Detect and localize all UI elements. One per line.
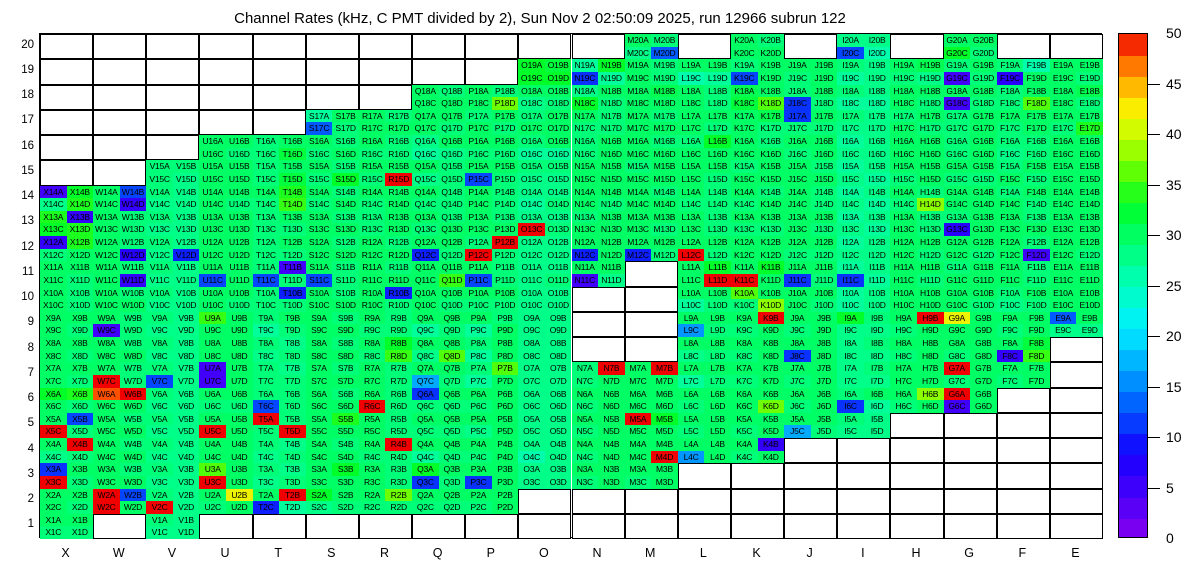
channel-quad[interactable]: H12A <box>890 236 917 249</box>
heatmap-cell[interactable]: P18AP18BP18CP18D <box>465 85 518 110</box>
channel-quad[interactable]: L7C <box>678 375 705 388</box>
channel-quad[interactable]: Q3B <box>439 463 466 476</box>
channel-quad[interactable]: I10C <box>837 299 864 312</box>
heatmap-cell[interactable]: G16AG16BG16CG16D <box>944 135 997 160</box>
heatmap-cell[interactable]: F8AF8BF8CF8D <box>997 337 1050 362</box>
channel-quad[interactable]: T11C <box>253 274 280 287</box>
heatmap-cell[interactable]: H9AH9BH9CH9D <box>890 312 943 337</box>
channel-quad[interactable]: Q18C <box>412 97 439 110</box>
heatmap-cell[interactable]: G8AG8BG8CG8D <box>944 337 997 362</box>
heatmap-cell[interactable]: U16AU16BU16CU16D <box>199 135 252 160</box>
heatmap-cell[interactable]: R4AR4BR4CR4D <box>359 438 412 463</box>
channel-quad[interactable]: U5D <box>226 425 253 438</box>
channel-quad[interactable]: J19A <box>784 59 811 72</box>
channel-quad[interactable]: E16C <box>1050 148 1077 161</box>
channel-quad[interactable]: M4D <box>651 451 678 464</box>
channel-quad[interactable]: F8C <box>997 350 1024 363</box>
channel-quad[interactable]: G9A <box>944 312 971 325</box>
channel-quad[interactable]: K17D <box>758 122 785 135</box>
channel-quad[interactable]: H8B <box>917 337 944 350</box>
channel-quad[interactable]: Q16C <box>412 148 439 161</box>
channel-quad[interactable]: J16C <box>784 148 811 161</box>
channel-quad[interactable]: H6A <box>890 388 917 401</box>
heatmap-cell[interactable]: X4AX4BX4CX4D <box>40 438 93 463</box>
channel-quad[interactable]: H15A <box>890 160 917 173</box>
channel-quad[interactable]: J11D <box>811 274 838 287</box>
channel-quad[interactable]: R9B <box>385 312 412 325</box>
channel-quad[interactable]: G17D <box>970 122 997 135</box>
channel-quad[interactable]: O12C <box>518 249 545 262</box>
channel-quad[interactable]: U4A <box>199 438 226 451</box>
heatmap-cell[interactable]: M15AM15BM15CM15D <box>625 160 678 185</box>
heatmap-cell[interactable]: J14AJ14BJ14CJ14D <box>784 186 837 211</box>
channel-quad[interactable]: M16D <box>651 148 678 161</box>
channel-quad[interactable]: F9A <box>997 312 1024 325</box>
channel-quad[interactable]: G6A <box>944 388 971 401</box>
heatmap-cell[interactable]: V4AV4BV4CV4D <box>146 438 199 463</box>
heatmap-cell[interactable]: K5AK5BK5CK5D <box>731 413 784 438</box>
channel-quad[interactable]: Q17B <box>439 110 466 123</box>
channel-quad[interactable]: I12A <box>837 236 864 249</box>
channel-quad[interactable]: P7C <box>465 375 492 388</box>
channel-quad[interactable]: W13C <box>93 223 120 236</box>
channel-quad[interactable]: H11B <box>917 261 944 274</box>
channel-quad[interactable]: N15A <box>572 160 599 173</box>
channel-quad[interactable]: F17D <box>1023 122 1050 135</box>
channel-quad[interactable]: L15A <box>678 160 705 173</box>
channel-quad[interactable]: E10A <box>1050 287 1077 300</box>
channel-quad[interactable]: H18B <box>917 85 944 98</box>
channel-quad[interactable]: R15C <box>359 173 386 186</box>
channel-quad[interactable]: T8C <box>253 350 280 363</box>
channel-quad[interactable]: N3D <box>598 476 625 489</box>
channel-quad[interactable]: T10A <box>253 287 280 300</box>
channel-quad[interactable]: L8A <box>678 337 705 350</box>
channel-quad[interactable]: I20A <box>837 34 864 47</box>
channel-quad[interactable]: P16D <box>492 148 519 161</box>
channel-quad[interactable]: E16D <box>1076 148 1103 161</box>
heatmap-cell[interactable]: S17AS17BS17CS17D <box>306 110 359 135</box>
channel-quad[interactable]: E15A <box>1050 160 1077 173</box>
channel-quad[interactable]: V15D <box>173 173 200 186</box>
heatmap-cell[interactable]: S14AS14BS14CS14D <box>306 186 359 211</box>
channel-quad[interactable]: S17A <box>306 110 333 123</box>
channel-quad[interactable]: X13A <box>40 211 67 224</box>
channel-quad[interactable]: H17B <box>917 110 944 123</box>
channel-quad[interactable]: G20B <box>970 34 997 47</box>
channel-quad[interactable]: U10C <box>199 299 226 312</box>
channel-quad[interactable]: R3D <box>385 476 412 489</box>
channel-quad[interactable]: Q13A <box>412 211 439 224</box>
channel-quad[interactable]: E10C <box>1050 299 1077 312</box>
heatmap-cell[interactable]: L15AL15BL15CL15D <box>678 160 731 185</box>
channel-quad[interactable]: Q14B <box>439 186 466 199</box>
channel-quad[interactable]: L8B <box>704 337 731 350</box>
channel-quad[interactable]: P6C <box>465 400 492 413</box>
channel-quad[interactable]: T12D <box>279 249 306 262</box>
channel-quad[interactable]: W6B <box>120 388 147 401</box>
channel-quad[interactable]: N17C <box>572 122 599 135</box>
heatmap-cell[interactable]: U9AU9BU9CU9D <box>199 312 252 337</box>
heatmap-cell[interactable]: O9AO9BO9CO9D <box>518 312 571 337</box>
channel-quad[interactable]: N18B <box>598 85 625 98</box>
heatmap-cell[interactable]: R3AR3BR3CR3D <box>359 463 412 488</box>
channel-quad[interactable]: J14D <box>811 198 838 211</box>
channel-quad[interactable]: X3C <box>40 476 67 489</box>
channel-quad[interactable]: V10A <box>146 287 173 300</box>
channel-quad[interactable]: G8C <box>944 350 971 363</box>
channel-quad[interactable]: E13D <box>1076 223 1103 236</box>
channel-quad[interactable]: L7B <box>704 362 731 375</box>
channel-quad[interactable]: U3B <box>226 463 253 476</box>
channel-quad[interactable]: O17C <box>518 122 545 135</box>
heatmap-cell[interactable]: K14AK14BK14CK14D <box>731 186 784 211</box>
channel-quad[interactable]: N6A <box>572 388 599 401</box>
channel-quad[interactable]: U9C <box>199 324 226 337</box>
channel-quad[interactable]: K7A <box>731 362 758 375</box>
heatmap-cell[interactable]: L10AL10BL10CL10D <box>678 287 731 312</box>
channel-quad[interactable]: N13C <box>572 223 599 236</box>
channel-quad[interactable]: H15D <box>917 173 944 186</box>
channel-quad[interactable]: N3C <box>572 476 599 489</box>
channel-quad[interactable]: J17C <box>784 122 811 135</box>
channel-quad[interactable]: U6D <box>226 400 253 413</box>
channel-quad[interactable]: J19B <box>811 59 838 72</box>
channel-quad[interactable]: E9D <box>1076 324 1103 337</box>
channel-quad[interactable]: L11B <box>704 261 731 274</box>
heatmap-cell[interactable]: F17AF17BF17CF17D <box>997 110 1050 135</box>
heatmap-cell[interactable]: R9AR9BR9CR9D <box>359 312 412 337</box>
heatmap-cell[interactable]: U15AU15BU15CU15D <box>199 160 252 185</box>
channel-quad[interactable]: O9D <box>545 324 572 337</box>
channel-quad[interactable]: R10B <box>385 287 412 300</box>
channel-quad[interactable]: G10C <box>944 299 971 312</box>
channel-quad[interactable]: R5B <box>385 413 412 426</box>
channel-quad[interactable]: X2C <box>40 501 67 514</box>
channel-quad[interactable]: V3D <box>173 476 200 489</box>
heatmap-cell[interactable]: L9AL9BL9CL9D <box>678 312 731 337</box>
channel-quad[interactable]: T7A <box>253 362 280 375</box>
channel-quad[interactable]: I19D <box>864 72 891 85</box>
channel-quad[interactable]: V11C <box>146 274 173 287</box>
channel-quad[interactable]: X9D <box>67 324 94 337</box>
heatmap-cell[interactable]: T14AT14BT14CT14D <box>253 186 306 211</box>
heatmap-cell[interactable]: L18AL18BL18CL18D <box>678 85 731 110</box>
channel-quad[interactable]: X14D <box>67 198 94 211</box>
heatmap-cell[interactable]: I8AI8BI8CI8D <box>837 337 890 362</box>
channel-quad[interactable]: O13D <box>545 223 572 236</box>
channel-quad[interactable]: M14A <box>625 186 652 199</box>
channel-quad[interactable]: T8D <box>279 350 306 363</box>
heatmap-cell[interactable]: M7AM7BM7CM7D <box>625 362 678 387</box>
channel-quad[interactable]: U3D <box>226 476 253 489</box>
channel-quad[interactable]: K6B <box>758 388 785 401</box>
channel-quad[interactable]: E17C <box>1050 122 1077 135</box>
heatmap-cell[interactable]: O19AO19BO19CO19D <box>518 59 571 84</box>
channel-quad[interactable]: O12A <box>518 236 545 249</box>
channel-quad[interactable]: P4D <box>492 451 519 464</box>
channel-quad[interactable]: M5A <box>625 413 652 426</box>
heatmap-cell[interactable]: F10AF10BF10CF10D <box>997 287 1050 312</box>
channel-quad[interactable]: K5C <box>731 425 758 438</box>
heatmap-cell[interactable]: M6AM6BM6CM6D <box>625 388 678 413</box>
channel-quad[interactable]: I18A <box>837 85 864 98</box>
heatmap-cell[interactable]: S15AS15BS15CS15D <box>306 160 359 185</box>
channel-quad[interactable]: X14C <box>40 198 67 211</box>
channel-quad[interactable]: W2D <box>120 501 147 514</box>
channel-quad[interactable]: O3C <box>518 476 545 489</box>
heatmap-cell[interactable]: S9AS9BS9CS9D <box>306 312 359 337</box>
channel-quad[interactable]: M6B <box>651 388 678 401</box>
channel-quad[interactable]: W3A <box>93 463 120 476</box>
channel-quad[interactable]: K9A <box>731 312 758 325</box>
channel-quad[interactable]: V15A <box>146 160 173 173</box>
channel-quad[interactable]: O10D <box>545 299 572 312</box>
heatmap-cell[interactable]: T2AT2BT2CT2D <box>253 489 306 514</box>
channel-quad[interactable]: E14D <box>1076 198 1103 211</box>
channel-quad[interactable]: I20C <box>837 47 864 60</box>
channel-quad[interactable]: R8D <box>385 350 412 363</box>
channel-quad[interactable]: U15A <box>199 160 226 173</box>
heatmap-cell[interactable]: M3AM3BM3CM3D <box>625 463 678 488</box>
channel-quad[interactable]: O6C <box>518 400 545 413</box>
channel-quad[interactable]: O13A <box>518 211 545 224</box>
channel-quad[interactable]: L10C <box>678 299 705 312</box>
channel-quad[interactable]: H13B <box>917 211 944 224</box>
channel-quad[interactable]: T11A <box>253 261 280 274</box>
channel-quad[interactable]: H11C <box>890 274 917 287</box>
channel-quad[interactable]: X10B <box>67 287 94 300</box>
channel-quad[interactable]: E19C <box>1050 72 1077 85</box>
channel-quad[interactable]: X5C <box>40 425 67 438</box>
channel-quad[interactable]: P4A <box>465 438 492 451</box>
channel-quad[interactable]: V8A <box>146 337 173 350</box>
channel-quad[interactable]: O10C <box>518 299 545 312</box>
heatmap-cell[interactable]: P6AP6BP6CP6D <box>465 388 518 413</box>
channel-quad[interactable]: I20B <box>864 34 891 47</box>
heatmap-cell[interactable]: Q8AQ8BQ8CQ8D <box>412 337 465 362</box>
heatmap-cell[interactable]: V12AV12BV12CV12D <box>146 236 199 261</box>
channel-quad[interactable]: L13C <box>678 223 705 236</box>
channel-quad[interactable]: I20D <box>864 47 891 60</box>
heatmap-cell[interactable]: R5AR5BR5CR5D <box>359 413 412 438</box>
channel-quad[interactable]: G18B <box>970 85 997 98</box>
channel-quad[interactable]: J13C <box>784 223 811 236</box>
channel-quad[interactable]: R7B <box>385 362 412 375</box>
channel-quad[interactable]: S4C <box>306 451 333 464</box>
channel-quad[interactable]: U12A <box>199 236 226 249</box>
channel-quad[interactable]: S15A <box>306 160 333 173</box>
heatmap-cell[interactable]: O16AO16BO16CO16D <box>518 135 571 160</box>
heatmap-cell[interactable]: N13AN13BN13CN13D <box>572 211 625 236</box>
channel-quad[interactable]: R15A <box>359 160 386 173</box>
heatmap-cell[interactable]: H14AH14BH14CH14D <box>890 186 943 211</box>
channel-quad[interactable]: S15B <box>332 160 359 173</box>
channel-quad[interactable]: W10C <box>93 299 120 312</box>
channel-quad[interactable]: P14A <box>465 186 492 199</box>
channel-quad[interactable]: E15B <box>1076 160 1103 173</box>
channel-quad[interactable]: N6C <box>572 400 599 413</box>
channel-quad[interactable]: T5D <box>279 425 306 438</box>
channel-quad[interactable]: N7C <box>572 375 599 388</box>
channel-quad[interactable]: O16B <box>545 135 572 148</box>
channel-quad[interactable]: P14D <box>492 198 519 211</box>
channel-quad[interactable]: G16C <box>944 148 971 161</box>
channel-quad[interactable]: Q10A <box>412 287 439 300</box>
heatmap-cell[interactable]: W5AW5BW5CW5D <box>93 413 146 438</box>
channel-quad[interactable]: V14D <box>173 198 200 211</box>
channel-quad[interactable]: K4C <box>731 451 758 464</box>
channel-quad[interactable]: F15A <box>997 160 1024 173</box>
channel-quad[interactable]: N11B <box>598 261 625 274</box>
channel-quad[interactable]: J5B <box>811 413 838 426</box>
channel-quad[interactable]: X13C <box>40 223 67 236</box>
channel-quad[interactable]: M13D <box>651 223 678 236</box>
heatmap-cell[interactable]: V3AV3BV3CV3D <box>146 463 199 488</box>
channel-quad[interactable]: K17A <box>731 110 758 123</box>
heatmap-cell[interactable]: V15AV15BV15CV15D <box>146 160 199 185</box>
channel-quad[interactable]: F14C <box>997 198 1024 211</box>
channel-quad[interactable]: W11B <box>120 261 147 274</box>
channel-quad[interactable]: F16B <box>1023 135 1050 148</box>
channel-quad[interactable]: U7C <box>199 375 226 388</box>
heatmap-cell[interactable]: P11AP11BP11CP11D <box>465 261 518 286</box>
channel-quad[interactable]: X6D <box>67 400 94 413</box>
channel-quad[interactable]: K11A <box>731 261 758 274</box>
heatmap-cell[interactable]: H11AH11BH11CH11D <box>890 261 943 286</box>
channel-quad[interactable]: N19B <box>598 59 625 72</box>
channel-quad[interactable]: S6B <box>332 388 359 401</box>
channel-quad[interactable]: Q14A <box>412 186 439 199</box>
heatmap-cell[interactable]: I7AI7BI7CI7D <box>837 362 890 387</box>
channel-quad[interactable]: P15A <box>465 160 492 173</box>
heatmap-cell[interactable]: S10AS10BS10CS10D <box>306 287 359 312</box>
channel-quad[interactable]: W8C <box>93 350 120 363</box>
heatmap-cell[interactable]: E14AE14BE14CE14D <box>1050 186 1103 211</box>
heatmap-cell[interactable]: N3AN3BN3CN3D <box>572 463 625 488</box>
channel-quad[interactable]: H13D <box>917 223 944 236</box>
channel-quad[interactable]: W7D <box>120 375 147 388</box>
channel-quad[interactable]: K13D <box>758 223 785 236</box>
channel-quad[interactable]: I18B <box>864 85 891 98</box>
channel-quad[interactable]: R17A <box>359 110 386 123</box>
channel-quad[interactable]: L8C <box>678 350 705 363</box>
channel-quad[interactable]: Q11A <box>412 261 439 274</box>
channel-quad[interactable]: T3D <box>279 476 306 489</box>
channel-quad[interactable]: Q12C <box>412 249 439 262</box>
channel-quad[interactable]: L16C <box>678 148 705 161</box>
channel-quad[interactable]: M12B <box>651 236 678 249</box>
channel-quad[interactable]: G11C <box>944 274 971 287</box>
channel-quad[interactable]: X11D <box>67 274 94 287</box>
channel-quad[interactable]: W4A <box>93 438 120 451</box>
channel-quad[interactable]: V11A <box>146 261 173 274</box>
channel-quad[interactable]: F16C <box>997 148 1024 161</box>
channel-quad[interactable]: O19B <box>545 59 572 72</box>
channel-quad[interactable]: X5A <box>40 413 67 426</box>
channel-quad[interactable]: L10A <box>678 287 705 300</box>
channel-quad[interactable]: O15B <box>545 160 572 173</box>
channel-quad[interactable]: W9A <box>93 312 120 325</box>
channel-quad[interactable]: M7C <box>625 375 652 388</box>
channel-quad[interactable]: P10A <box>465 287 492 300</box>
channel-quad[interactable]: W7A <box>93 362 120 375</box>
channel-quad[interactable]: J9D <box>811 324 838 337</box>
channel-quad[interactable]: G18C <box>944 97 971 110</box>
channel-quad[interactable]: T12C <box>253 249 280 262</box>
channel-quad[interactable]: N6B <box>598 388 625 401</box>
channel-quad[interactable]: J15D <box>811 173 838 186</box>
heatmap-cell[interactable]: R12AR12BR12CR12D <box>359 236 412 261</box>
heatmap-cell[interactable]: M5AM5BM5CM5D <box>625 413 678 438</box>
heatmap-cell[interactable]: K15AK15BK15CK15D <box>731 160 784 185</box>
channel-quad[interactable]: Q9C <box>412 324 439 337</box>
channel-quad[interactable]: P11C <box>465 274 492 287</box>
channel-quad[interactable]: P18D <box>492 97 519 110</box>
channel-quad[interactable]: J12B <box>811 236 838 249</box>
heatmap-cell[interactable]: N5AN5BN5CN5D <box>572 413 625 438</box>
channel-quad[interactable]: J17A <box>784 110 811 123</box>
heatmap-cell[interactable]: H10AH10BH10CH10D <box>890 287 943 312</box>
heatmap-cell[interactable]: X6AX6BX6CX6D <box>40 388 93 413</box>
channel-quad[interactable]: U9D <box>226 324 253 337</box>
channel-quad[interactable]: O9C <box>518 324 545 337</box>
channel-quad[interactable]: E15C <box>1050 173 1077 186</box>
heatmap-cell[interactable]: L19AL19BL19CL19D <box>678 59 731 84</box>
channel-quad[interactable]: K20B <box>758 34 785 47</box>
heatmap-cell[interactable]: Q3AQ3BQ3CQ3D <box>412 463 465 488</box>
heatmap-cell[interactable]: M17AM17BM17CM17D <box>625 110 678 135</box>
channel-quad[interactable]: O6A <box>518 388 545 401</box>
channel-quad[interactable]: R12C <box>359 249 386 262</box>
heatmap-cell[interactable]: X7AX7BX7CX7D <box>40 362 93 387</box>
channel-quad[interactable]: T16A <box>253 135 280 148</box>
channel-quad[interactable]: I8D <box>864 350 891 363</box>
channel-quad[interactable]: U6B <box>226 388 253 401</box>
channel-quad[interactable]: R6B <box>385 388 412 401</box>
heatmap-cell[interactable]: Q16AQ16BQ16CQ16D <box>412 135 465 160</box>
channel-quad[interactable]: L16A <box>678 135 705 148</box>
channel-quad[interactable]: E9B <box>1076 312 1103 325</box>
channel-quad[interactable]: M15D <box>651 173 678 186</box>
channel-quad[interactable]: V5C <box>146 425 173 438</box>
channel-quad[interactable]: N5A <box>572 413 599 426</box>
channel-quad[interactable]: O18C <box>518 97 545 110</box>
channel-quad[interactable]: F12A <box>997 236 1024 249</box>
channel-quad[interactable]: I13C <box>837 223 864 236</box>
heatmap-cell[interactable]: P4AP4BP4CP4D <box>465 438 518 463</box>
channel-quad[interactable]: O11D <box>545 274 572 287</box>
channel-quad[interactable]: Q15B <box>439 160 466 173</box>
channel-quad[interactable]: F12D <box>1023 249 1050 262</box>
channel-quad[interactable]: H10C <box>890 299 917 312</box>
channel-quad[interactable]: G19D <box>970 72 997 85</box>
channel-quad[interactable]: K12D <box>758 249 785 262</box>
heatmap-cell[interactable]: X9AX9BX9CX9D <box>40 312 93 337</box>
channel-quad[interactable]: R2D <box>385 501 412 514</box>
channel-quad[interactable]: Q5C <box>412 425 439 438</box>
channel-quad[interactable]: K5D <box>758 425 785 438</box>
heatmap-cell[interactable]: W4AW4BW4CW4D <box>93 438 146 463</box>
channel-quad[interactable]: N13A <box>572 211 599 224</box>
channel-quad[interactable]: U8A <box>199 337 226 350</box>
channel-quad[interactable]: V1C <box>146 526 173 539</box>
channel-quad[interactable]: U16B <box>226 135 253 148</box>
channel-quad[interactable]: U6C <box>199 400 226 413</box>
heatmap-cell[interactable]: T10AT10BT10CT10D <box>253 287 306 312</box>
channel-quad[interactable]: F19B <box>1023 59 1050 72</box>
heatmap-cell[interactable]: R15AR15BR15CR15D <box>359 160 412 185</box>
